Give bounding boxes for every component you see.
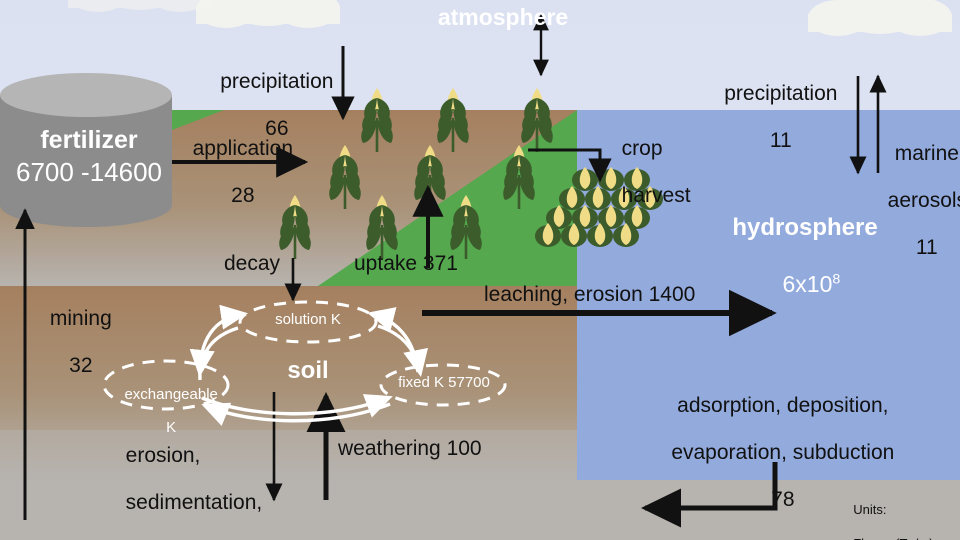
decay-label: decay <box>224 252 280 276</box>
hydrosphere-value: 6x108 <box>700 246 910 298</box>
erosion-line2: sedimentation, <box>126 491 263 514</box>
application-label: application 28 <box>172 113 302 207</box>
mining-label: mining 32 <box>30 283 120 377</box>
ocean-sink-line2: evaporation, subduction <box>671 441 894 464</box>
crop-harvest-line1: crop <box>622 137 663 160</box>
weathering-label: weathering 100 <box>338 437 482 461</box>
crop-harvest-line2: harvest <box>622 184 691 207</box>
soil-label: soil <box>258 358 358 385</box>
mining-text: mining <box>50 307 112 330</box>
units-line2: Fluxes (Tg/yr) <box>853 536 933 540</box>
uptake-label: uptake 371 <box>354 252 458 276</box>
solution-k-label: solution K <box>252 312 364 329</box>
precipitation-ocean-value: 11 <box>770 129 792 152</box>
marine-aerosols-line1: marine <box>895 142 959 165</box>
fixed-k-label: fixed K 57700 <box>382 375 506 392</box>
diagram-canvas: atmosphere precipitation 66 fertilizer 6… <box>0 0 960 540</box>
hydrosphere-label: hydrosphere <box>700 215 910 242</box>
precipitation-ocean-label: precipitation 11 <box>700 58 850 152</box>
exchangeable-k-line1: exchangeable <box>124 386 217 403</box>
atmosphere-label: atmosphere <box>418 5 588 31</box>
fertilizer-value: 6700 -14600 <box>0 158 178 187</box>
ocean-sink-line1: adsorption, deposition, <box>677 394 888 417</box>
erosion-line1: erosion, <box>126 444 201 467</box>
hydrosphere-value-base: 6x10 <box>782 271 832 297</box>
units-note: Units: Fluxes (Tg/yr) Reservoirs (Tg) <box>846 484 946 540</box>
hydrosphere-value-exp: 8 <box>832 271 840 287</box>
marine-aerosols-line2: aerosols <box>888 189 960 212</box>
application-value: 28 <box>231 184 254 207</box>
marine-aerosols-value: 11 <box>916 236 938 259</box>
application-text: application <box>193 137 293 160</box>
precipitation-ocean-text: precipitation <box>724 82 837 105</box>
leaching-erosion-label: leaching, erosion 1400 <box>484 283 695 307</box>
fertilizer-label: fertilizer <box>6 126 172 154</box>
ocean-sink-value: 78 <box>771 488 794 511</box>
lithosphere-label: lithosphere (4-8)x106 (primary minerals) <box>56 512 254 540</box>
precipitation-land-text: precipitation <box>220 70 333 93</box>
mining-value: 32 <box>69 354 92 377</box>
units-line1: Units: <box>853 502 886 517</box>
